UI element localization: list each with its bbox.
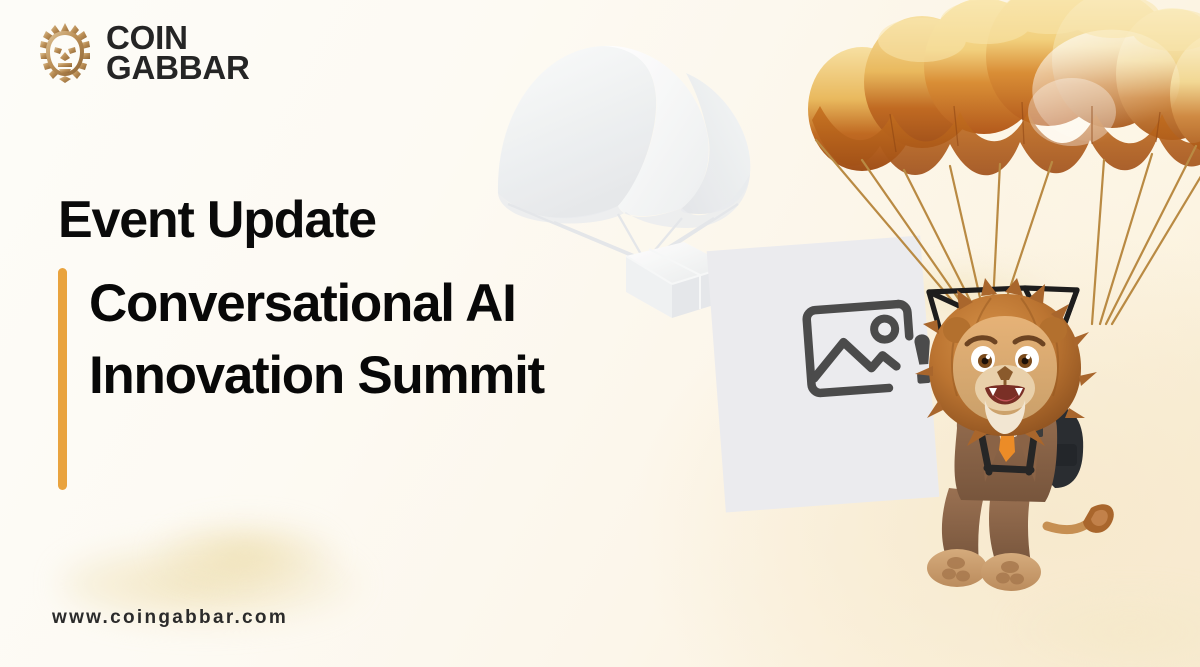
page-title: Conversational AI Innovation Summit <box>89 268 604 490</box>
accent-bar <box>58 268 67 490</box>
cloud-shape <box>150 517 340 589</box>
lion-head-logo-icon <box>36 22 94 84</box>
lion-mascot-skydiver-icon <box>905 276 1155 596</box>
logo-text-gabbar: GABBAR <box>106 53 250 83</box>
headline-block: Conversational AI Innovation Summit <box>58 268 658 490</box>
event-kicker: Event Update <box>58 193 376 248</box>
brand-logo[interactable]: COIN GABBAR <box>36 22 250 84</box>
event-banner: COIN GABBAR Event Update Conversational … <box>0 0 1200 667</box>
cloud-shape <box>1010 591 1200 661</box>
site-url[interactable]: www.coingabbar.com <box>52 607 288 629</box>
